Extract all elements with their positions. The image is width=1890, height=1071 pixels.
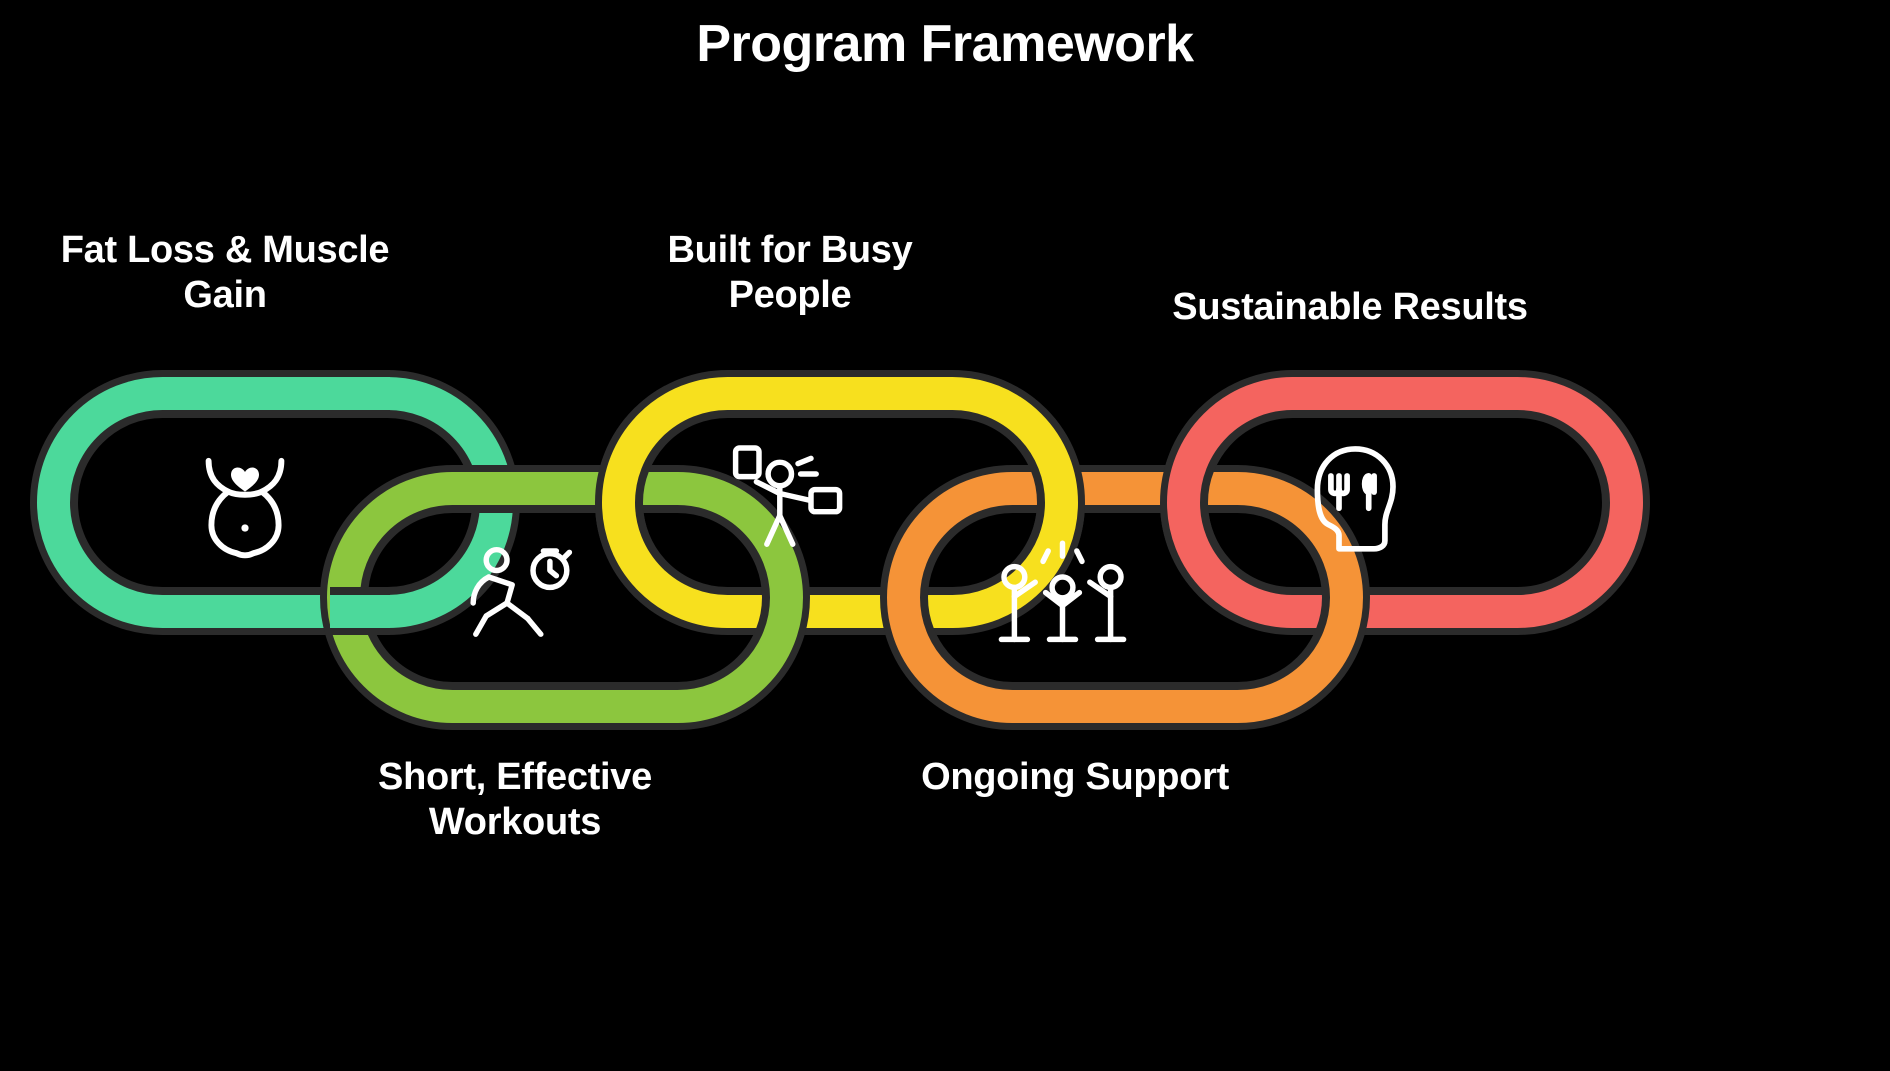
weave-patch-1 [330, 370, 390, 635]
team-highfive-icon [990, 525, 1135, 655]
weave-patch-2 [595, 370, 665, 635]
chain-link-4-label: Ongoing Support [860, 755, 1290, 800]
chain-link-3-label: Built for Busy People [575, 228, 1005, 318]
runner-stopwatch-icon [455, 525, 585, 655]
chain-link-2-label: Short, Effective Workouts [300, 755, 730, 845]
infographic-canvas: Program Framework [0, 0, 1890, 1071]
busy-person-devices-icon [720, 435, 850, 565]
weave-patch-4 [1160, 370, 1230, 635]
chain-link-5-label: Sustainable Results [1110, 285, 1590, 330]
waist-torso-icon [175, 430, 315, 570]
head-nutrition-icon [1285, 430, 1420, 565]
chain-link-1-label: Fat Loss & Muscle Gain [10, 228, 440, 318]
